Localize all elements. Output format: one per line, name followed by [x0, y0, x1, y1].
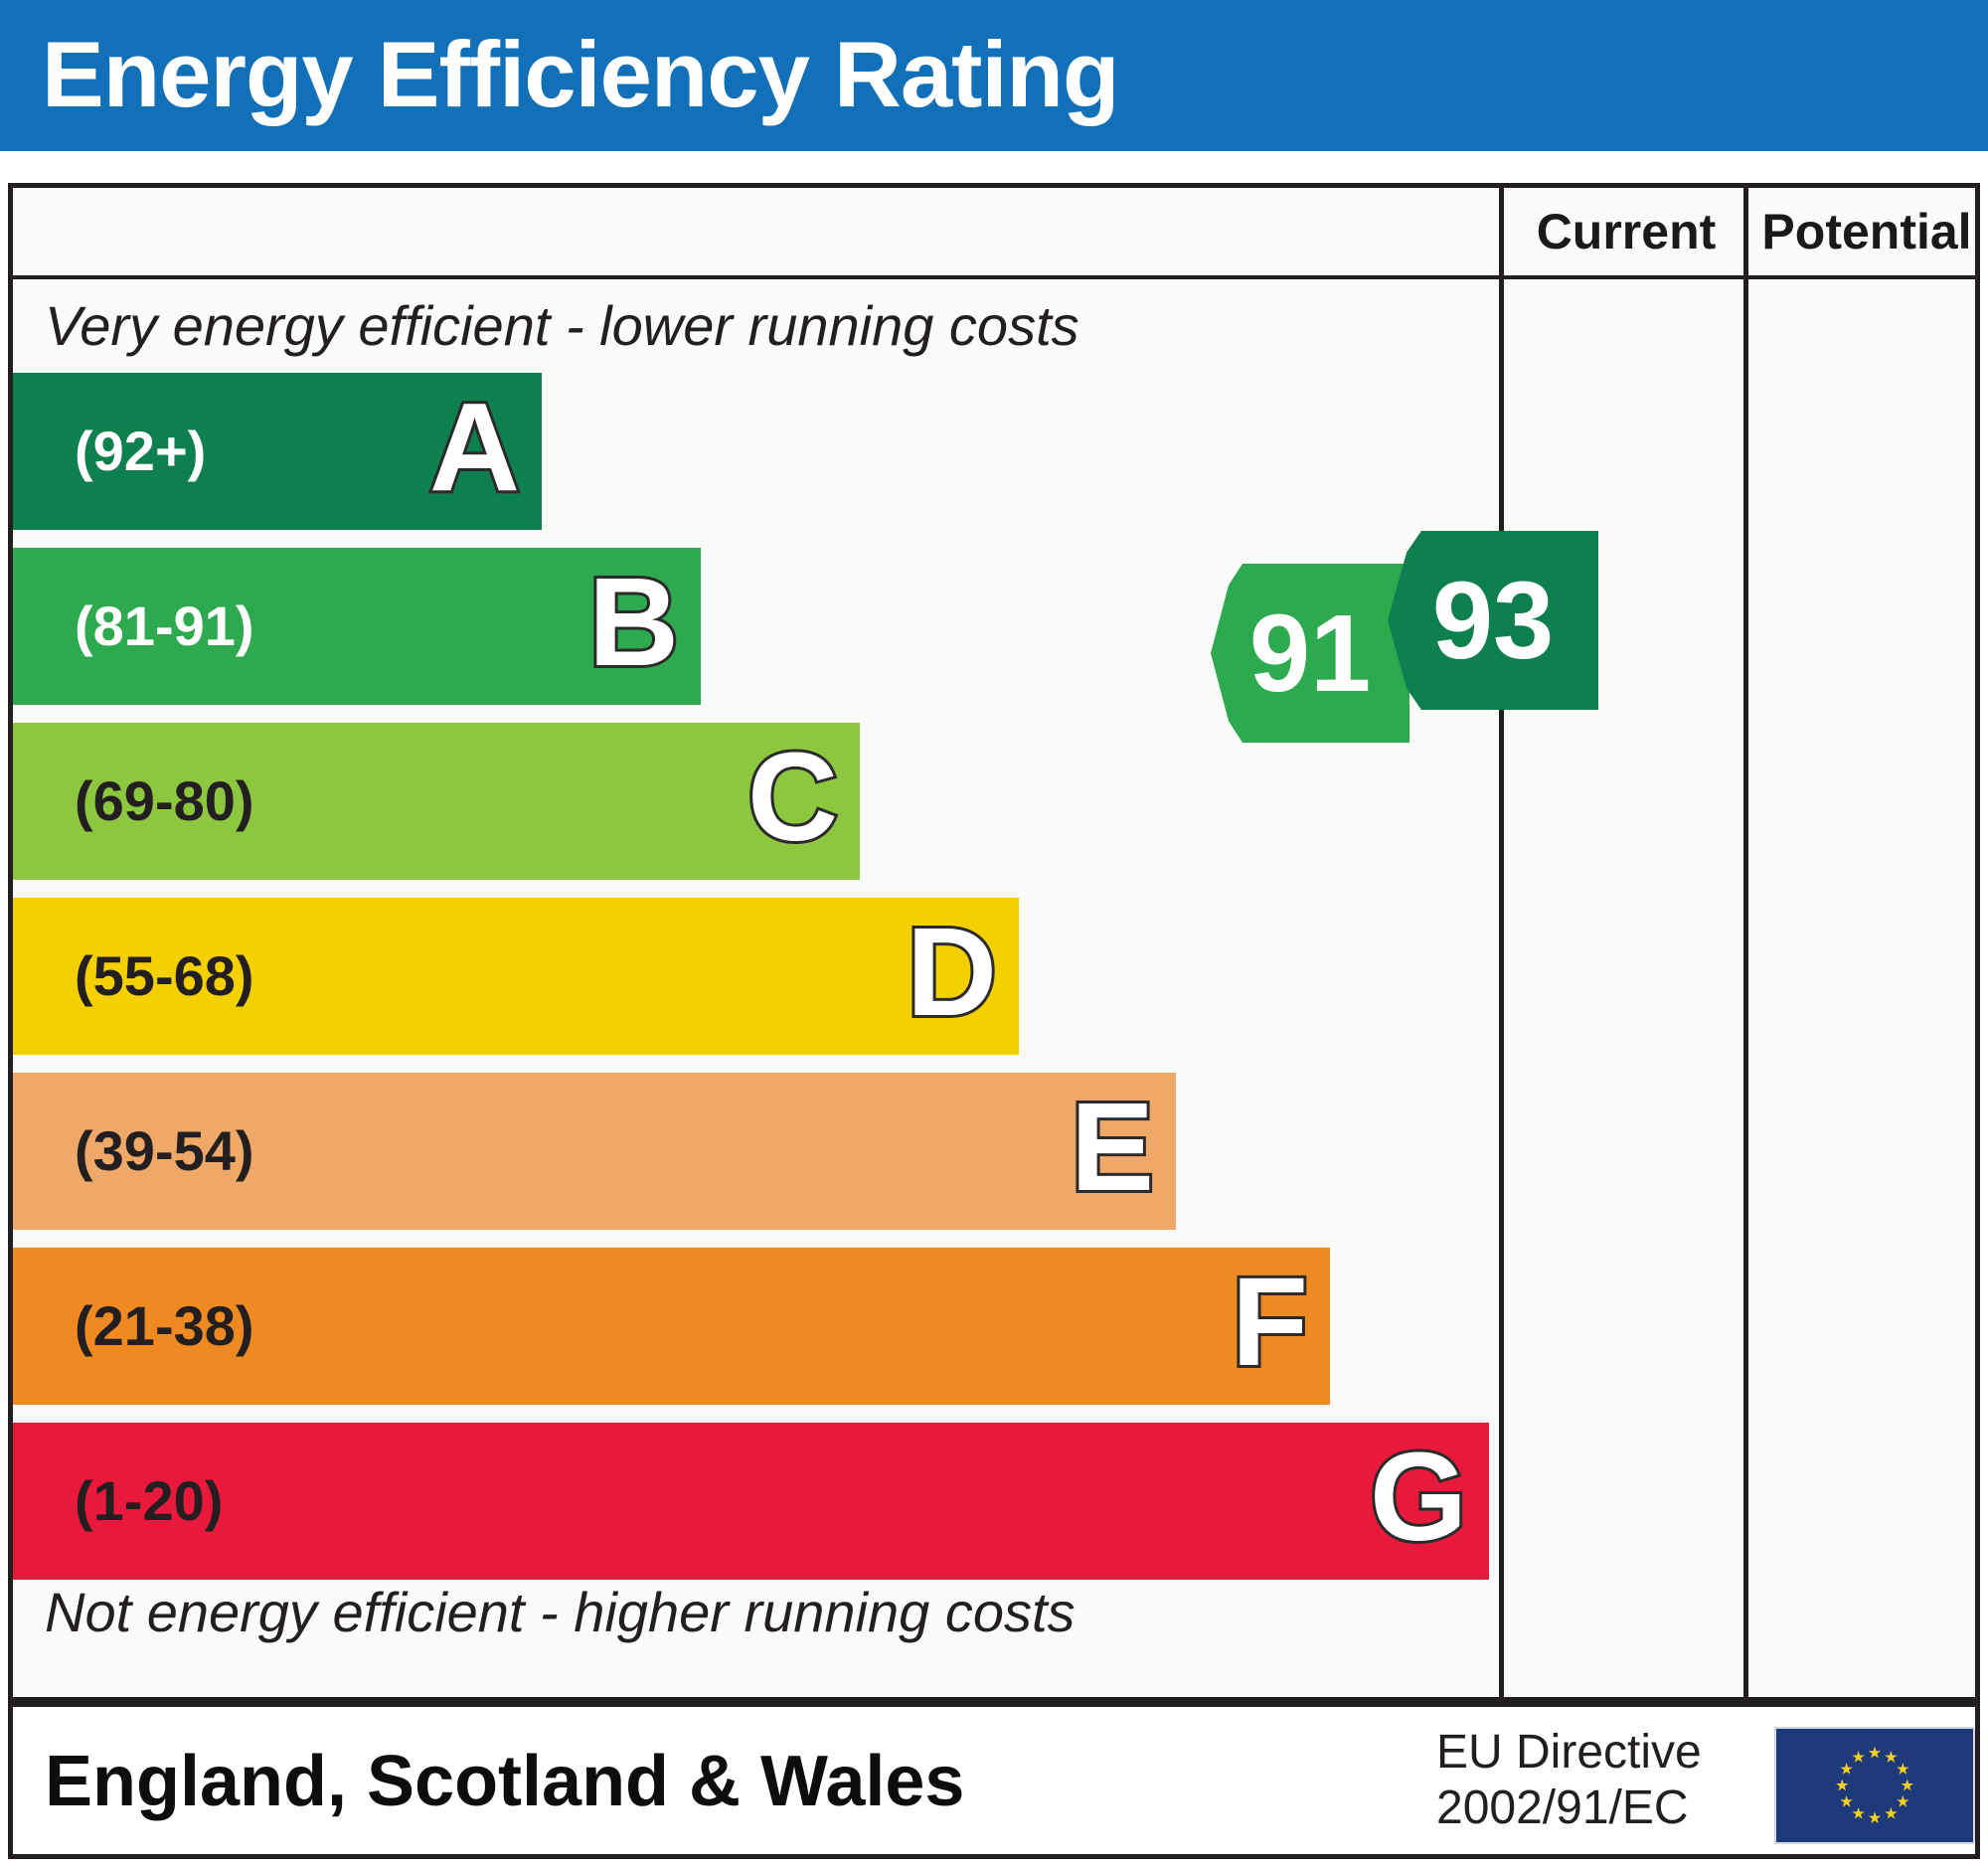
energy-efficiency-certificate: Energy Efficiency Rating Current Potenti… [0, 0, 1988, 1867]
band-letter-d: D [907, 898, 997, 1055]
eu-star [1852, 1807, 1864, 1819]
rating-band-f: (21-38)F [13, 1248, 1330, 1405]
eu-flag-stars [1776, 1729, 1973, 1842]
band-range-d: (55-68) [75, 898, 254, 1055]
eu-star [1885, 1751, 1897, 1763]
column-header-potential: Potential [1748, 188, 1985, 275]
eu-star [1840, 1795, 1852, 1807]
rating-band-b: (81-91)B [13, 548, 701, 705]
potential-rating-value: 93 [1432, 558, 1554, 684]
band-range-f: (21-38) [75, 1248, 254, 1405]
band-letter-e: E [1071, 1073, 1154, 1230]
band-range-c: (69-80) [75, 723, 254, 880]
region-label: England, Scotland & Wales [45, 1733, 964, 1830]
eu-star [1885, 1807, 1897, 1819]
column-divider-1 [1499, 188, 1504, 1697]
band-range-g: (1-20) [75, 1423, 223, 1580]
rating-band-g: (1-20)G [13, 1423, 1489, 1580]
eu-star [1869, 1747, 1881, 1759]
eu-directive-line1: EU Directive [1436, 1725, 1702, 1781]
eu-flag-icon [1774, 1727, 1975, 1844]
band-letter-b: B [588, 548, 679, 705]
eu-star [1836, 1779, 1848, 1790]
band-letter-a: A [429, 373, 520, 530]
current-rating-badge: 91 [1211, 564, 1409, 743]
eu-directive-label: EU Directive 2002/91/EC [1436, 1725, 1702, 1836]
band-letter-c: C [747, 723, 838, 880]
current-rating-value: 91 [1249, 591, 1371, 717]
eu-star [1852, 1751, 1864, 1763]
rating-band-a: (92+)A [13, 373, 542, 530]
band-letter-g: G [1370, 1423, 1467, 1580]
eu-star [1869, 1811, 1881, 1823]
rating-table: Current Potential Very energy efficient … [8, 183, 1980, 1702]
rating-band-e: (39-54)E [13, 1073, 1176, 1230]
caption-inefficient: Not energy efficient - higher running co… [45, 1580, 1076, 1644]
page-title: Energy Efficiency Rating [42, 20, 1118, 129]
column-divider-2 [1743, 188, 1748, 1697]
footer: England, Scotland & Wales EU Directive 2… [8, 1702, 1980, 1859]
column-header-row: Current Potential [13, 188, 1975, 279]
column-header-current: Current [1504, 188, 1748, 275]
caption-efficient: Very energy efficient - lower running co… [45, 293, 1079, 358]
eu-directive-line2: 2002/91/EC [1436, 1781, 1702, 1836]
eu-star [1840, 1763, 1852, 1775]
rating-band-c: (69-80)C [13, 723, 860, 880]
band-range-e: (39-54) [75, 1073, 254, 1230]
band-range-b: (81-91) [75, 548, 254, 705]
rating-bands: (92+)A(81-91)B(69-80)C(55-68)D(39-54)E(2… [13, 373, 1494, 1566]
band-range-a: (92+) [75, 373, 206, 530]
band-letter-f: F [1232, 1248, 1308, 1405]
title-bar: Energy Efficiency Rating [0, 0, 1988, 151]
potential-rating-badge: 93 [1388, 531, 1598, 710]
eu-star [1897, 1795, 1908, 1807]
rating-band-d: (55-68)D [13, 898, 1019, 1055]
eu-star [1897, 1763, 1908, 1775]
eu-star [1902, 1779, 1913, 1790]
